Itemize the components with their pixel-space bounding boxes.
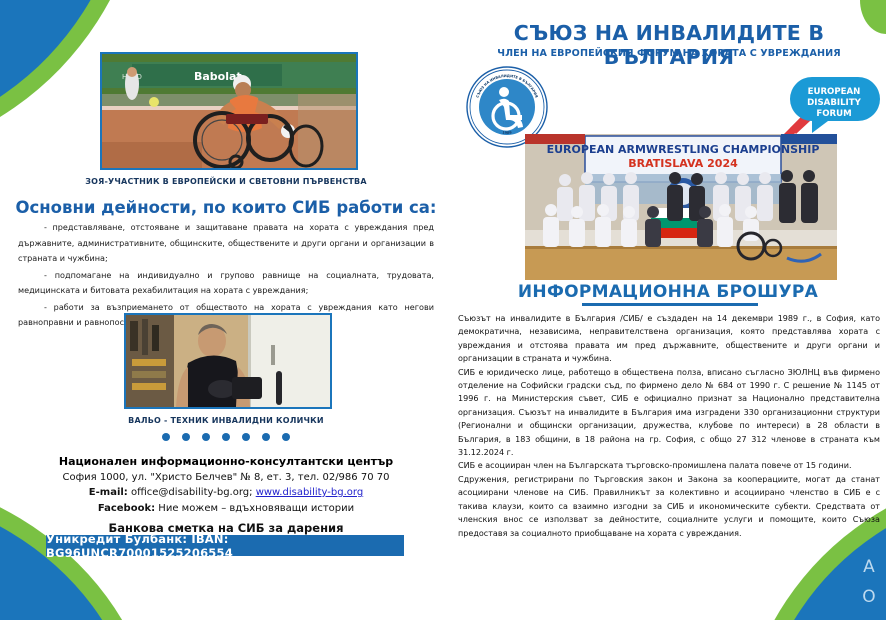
title-underline — [582, 303, 758, 306]
organization-title: СЪЮЗ НА ИНВАЛИДИТЕ В БЪЛГАРИЯ — [452, 21, 886, 69]
separator-dot — [222, 433, 230, 441]
left-page: Babolat HEAD — [0, 0, 452, 620]
activity-item: - подпомагане на индивидуално и групово … — [18, 268, 434, 299]
facebook-value: Ние можем – вдъхновяващи истории — [158, 503, 354, 514]
edf-logo-icon: EUROPEAN DISABILITY FORUM — [782, 72, 882, 138]
contact-email-row: E-mail: office@disability-bg.org; www.di… — [0, 485, 452, 501]
about-paragraph: СИБ е юридическо лице, работещо в общест… — [458, 366, 880, 460]
organization-subtitle: ЧЛЕН НА ЕВРОПЕЙСКИЯ ФОРУМ НА ХОРАТА С УВ… — [452, 48, 886, 59]
activity-item: - представляване, отстояване и защитаван… — [18, 220, 434, 267]
svg-text:1989: 1989 — [502, 131, 513, 136]
separator-dot — [202, 433, 210, 441]
separator-dot — [182, 433, 190, 441]
european-disability-forum-logo: EUROPEAN DISABILITY FORUM — [782, 72, 882, 138]
right-page: СЪЮЗ НА ИНВАЛИДИТЕ В БЪЛГАРИЯ ЧЛЕН НА ЕВ… — [452, 0, 886, 620]
brochure-title: ИНФОРМАЦИОННА БРОШУРА — [488, 282, 848, 302]
about-paragraph: Сдружения, регистрирани по Търговския за… — [458, 473, 880, 540]
contact-address: София 1000, ул. "Христо Белчев" № 8, ет.… — [0, 470, 452, 486]
email-label: E-mail: — [89, 487, 128, 498]
photo-wheelchair-tennis-caption: ЗОЯ-УЧАСТНИК В ЕВРОПЕЙСКИ И СВЕТОВНИ ПЪР… — [0, 177, 452, 186]
email-value: office@disability-bg.org; — [131, 487, 253, 498]
contact-facebook-row: Facebook: Ние можем – вдъхновяващи истор… — [0, 501, 452, 517]
website-link[interactable]: www.disability-bg.org — [256, 487, 364, 498]
brochure-page: А О Babolat HEAD — [0, 0, 886, 620]
separator-dot — [282, 433, 290, 441]
about-paragraph: Съюзът на инвалидите в България /СИБ/ е … — [458, 312, 880, 366]
facebook-label: Facebook: — [98, 503, 155, 514]
svg-text:FORUM: FORUM — [816, 109, 851, 119]
photo-wheelchair-tennis: Babolat HEAD — [100, 52, 358, 170]
iban-bar: Уникредит Булбанк: IBAN: BG96UNCR7000152… — [46, 535, 404, 556]
separator-dot — [242, 433, 250, 441]
svg-text:EUROPEAN: EUROPEAN — [808, 87, 861, 97]
separator-dot — [162, 433, 170, 441]
activities-heading: Основни дейности, по които СИБ работи са… — [0, 198, 452, 217]
dot-separator — [0, 433, 452, 441]
photo-wheelchair-technician-image — [126, 315, 330, 407]
photo-armwrestling-team: EUROPEAN ARMWRESTLING CHAMPIONSHIP BRATI… — [525, 134, 837, 280]
contact-block: Национален информационно-консултантски ц… — [0, 454, 452, 537]
photo-wheelchair-tennis-image: Babolat HEAD — [102, 54, 356, 168]
separator-dot — [262, 433, 270, 441]
about-paragraph: СИБ е асоцииран член на Българската търг… — [458, 459, 880, 472]
svg-text:DISABILITY: DISABILITY — [807, 98, 861, 108]
photo-armwrestling-team-image: EUROPEAN ARMWRESTLING CHAMPIONSHIP BRATI… — [525, 134, 837, 280]
about-text: Съюзът на инвалидите в България /СИБ/ е … — [458, 312, 880, 540]
photo-wheelchair-technician-caption: ВАЛЬО - ТЕХНИК ИНВАЛИДНИ КОЛИЧКИ — [0, 416, 452, 425]
photo-wheelchair-technician — [124, 313, 332, 409]
svg-text:EUROPEAN ARMWRESTLING CHAMPION: EUROPEAN ARMWRESTLING CHAMPIONSHIP — [547, 143, 820, 156]
contact-center-name: Национален информационно-консултантски ц… — [0, 454, 452, 470]
svg-text:BRATISLAVA 2024: BRATISLAVA 2024 — [628, 157, 738, 170]
